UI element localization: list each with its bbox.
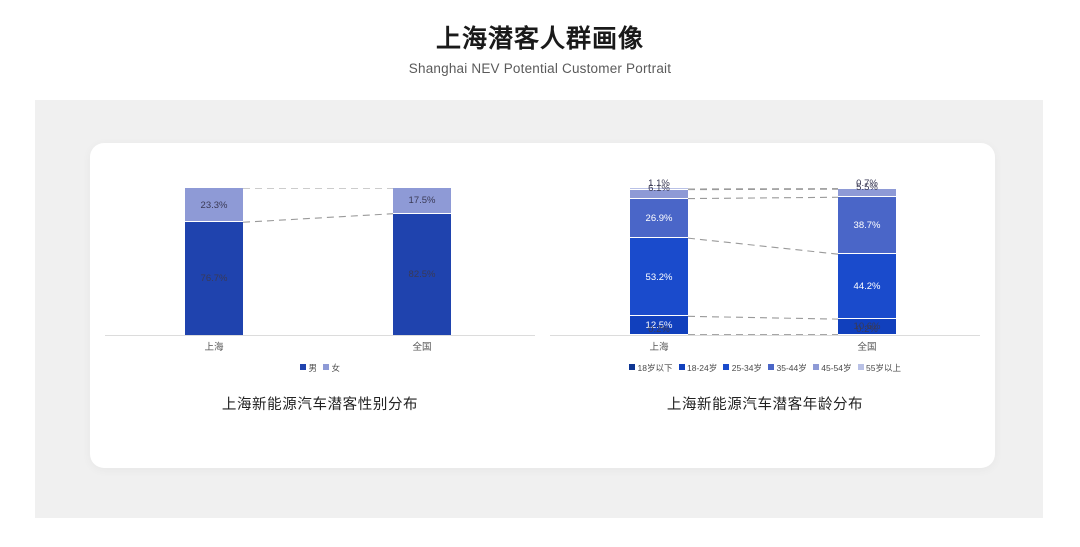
legend-swatch-icon xyxy=(858,364,864,370)
gender-distribution-value-label-1-1: 17.5% xyxy=(393,195,451,206)
gender-distribution-value-label-0-0: 76.7% xyxy=(185,273,243,284)
age-distribution-legend-item-4[interactable]: 45-54岁 xyxy=(813,361,852,374)
legend-swatch-icon xyxy=(629,364,635,370)
age-distribution-value-label-0-3: 26.9% xyxy=(630,213,688,224)
age-distribution-segment-0-3: 26.9% xyxy=(630,199,688,239)
gender-axis-line xyxy=(105,335,535,336)
gender-distribution-segment-1-1: 17.5% xyxy=(393,188,451,214)
age-distribution-legend-label-4: 45-54岁 xyxy=(821,362,851,374)
age-distribution-legend-label-2: 25-34岁 xyxy=(732,362,762,374)
age-distribution-value-label-1-4: 5.5% xyxy=(838,182,896,193)
age-distribution-segment-1-2: 44.2% xyxy=(838,254,896,319)
gender-distribution-value-label-1-0: 82.5% xyxy=(393,269,451,280)
age-distribution-value-label-0-4: 6.1% xyxy=(630,183,688,194)
legend-swatch-icon xyxy=(679,364,685,370)
age-distribution-segment-0-2: 53.2% xyxy=(630,238,688,316)
age-distribution-value-label-0-0: 0.2% xyxy=(630,324,688,335)
age-distribution-legend-label-1: 18-24岁 xyxy=(687,362,717,374)
charts-card: 23.3%76.7%17.5%82.5% 上海 全国 男女 上海新能源汽车潜客性… xyxy=(90,143,995,468)
legend-swatch-icon xyxy=(300,364,306,370)
gender-category-label-0: 上海 xyxy=(169,339,259,353)
gender-distribution-value-label-0-1: 23.3% xyxy=(185,200,243,211)
gender-distribution-bar-1: 17.5%82.5% xyxy=(393,188,451,335)
age-distribution-segment-1-4: 5.5% xyxy=(838,189,896,197)
age-distribution-legend-item-0[interactable]: 18岁以下 xyxy=(629,361,672,374)
age-distribution-legend-label-3: 35-44岁 xyxy=(777,362,807,374)
age-distribution-legend-item-3[interactable]: 35-44岁 xyxy=(768,361,807,374)
age-axis-line xyxy=(550,335,980,336)
legend-swatch-icon xyxy=(723,364,729,370)
gender-distribution-segment-0-0: 76.7% xyxy=(185,222,243,335)
gender-legend: 男女 xyxy=(100,361,540,374)
age-distribution-value-label-1-2: 44.2% xyxy=(838,281,896,292)
age-plot-area: 1.1%6.1%26.9%53.2%12.5%0.2%0.7%5.5%38.7%… xyxy=(545,188,985,335)
age-distribution-value-label-1-3: 38.7% xyxy=(838,220,896,231)
gender-chart-caption: 上海新能源汽车潜客性别分布 xyxy=(100,393,540,414)
gender-distribution-legend-item-1[interactable]: 女 xyxy=(323,361,340,374)
page-title: 上海潜客人群画像 xyxy=(0,24,1080,54)
chart-age-distribution: 1.1%6.1%26.9%53.2%12.5%0.2%0.7%5.5%38.7%… xyxy=(545,143,985,468)
page-root: 上海潜客人群画像 Shanghai NEV Potential Customer… xyxy=(0,0,1080,547)
age-distribution-legend-item-5[interactable]: 55岁以上 xyxy=(858,361,901,374)
page-subtitle: Shanghai NEV Potential Customer Portrait xyxy=(0,61,1080,77)
age-distribution-legend-item-2[interactable]: 25-34岁 xyxy=(723,361,762,374)
age-category-label-0: 上海 xyxy=(614,339,704,353)
gender-distribution-bar-0: 23.3%76.7% xyxy=(185,188,243,335)
chart-gender-distribution: 23.3%76.7%17.5%82.5% 上海 全国 男女 上海新能源汽车潜客性… xyxy=(100,143,540,468)
page-header: 上海潜客人群画像 Shanghai NEV Potential Customer… xyxy=(0,24,1080,77)
legend-swatch-icon xyxy=(323,364,329,370)
age-distribution-legend-item-1[interactable]: 18-24岁 xyxy=(679,361,718,374)
age-distribution-legend-label-0: 18岁以下 xyxy=(638,362,673,374)
gender-distribution-segment-0-1: 23.3% xyxy=(185,188,243,222)
age-distribution-bar-0: 1.1%6.1%26.9%53.2%12.5%0.2% xyxy=(630,188,688,335)
age-distribution-bar-1: 0.7%5.5%38.7%44.2%10.6%0.2% xyxy=(838,188,896,335)
gender-distribution-legend-item-0[interactable]: 男 xyxy=(300,361,317,374)
legend-swatch-icon xyxy=(768,364,774,370)
age-distribution-segment-1-3: 38.7% xyxy=(838,197,896,254)
age-category-label-1: 全国 xyxy=(822,339,912,353)
age-distribution-segment-0-4: 6.1% xyxy=(630,190,688,199)
gender-category-label-1: 全国 xyxy=(377,339,467,353)
gender-plot-area: 23.3%76.7%17.5%82.5% xyxy=(100,188,540,335)
age-distribution-legend-label-5: 55岁以上 xyxy=(866,362,901,374)
age-distribution-value-label-0-2: 53.2% xyxy=(630,272,688,283)
gender-distribution-legend-label-1: 女 xyxy=(332,362,341,374)
age-chart-caption: 上海新能源汽车潜客年龄分布 xyxy=(545,393,985,414)
age-distribution-value-label-1-0: 0.2% xyxy=(838,324,896,335)
legend-swatch-icon xyxy=(813,364,819,370)
age-legend: 18岁以下18-24岁25-34岁35-44岁45-54岁55岁以上 xyxy=(545,361,985,374)
gender-distribution-legend-label-0: 男 xyxy=(308,362,317,374)
gender-distribution-segment-1-0: 82.5% xyxy=(393,214,451,335)
